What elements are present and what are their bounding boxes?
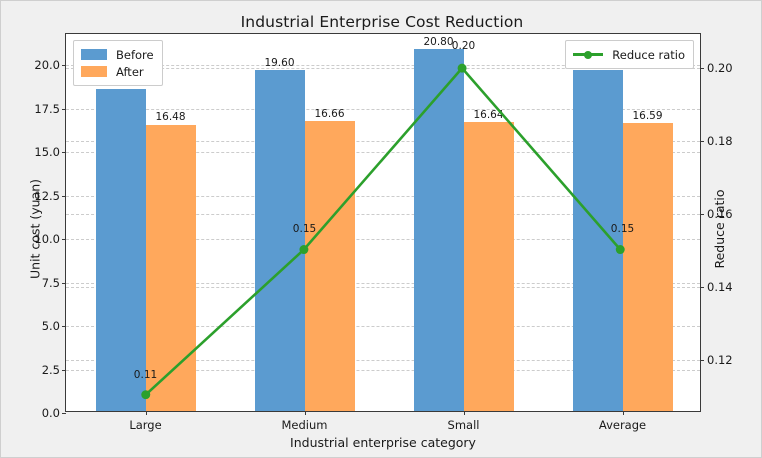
legend-swatch-before: [81, 49, 107, 60]
bar-before: [414, 49, 464, 411]
bar-before: [255, 70, 305, 411]
bar-before: [573, 70, 623, 411]
bar-value-label: 19.60: [264, 57, 294, 69]
x-tick-label: Small: [448, 418, 480, 432]
y-tick-label-right: 0.20: [707, 61, 733, 75]
bar-after: [464, 122, 514, 411]
y-tick-mark-left: [62, 152, 66, 153]
y-tick-mark-left: [62, 239, 66, 240]
y-tick-mark-left: [62, 65, 66, 66]
y-tick-label-right: 0.12: [707, 353, 733, 367]
y-tick-mark-right: [700, 141, 704, 142]
legend-label-reduce-ratio: Reduce ratio: [612, 48, 685, 62]
bar-value-label: 20.80: [423, 36, 453, 48]
y-tick-mark-right: [700, 214, 704, 215]
y-tick-label-left: 5.0: [42, 319, 60, 333]
y-tick-label-left: 0.0: [42, 406, 60, 420]
reduce-ratio-value-label: 0.20: [452, 40, 475, 52]
y-tick-mark-left: [62, 370, 66, 371]
chart-title: Industrial Enterprise Cost Reduction: [1, 13, 762, 31]
legend-bars[interactable]: BeforeAfter: [73, 40, 163, 86]
legend-row-reduce-ratio: Reduce ratio: [573, 46, 685, 63]
y-tick-label-right: 0.16: [707, 207, 733, 221]
chart-figure: Industrial Enterprise Cost Reduction Uni…: [0, 0, 762, 458]
x-tick-mark: [305, 411, 306, 415]
reduce-ratio-value-label: 0.11: [134, 369, 157, 381]
bar-after: [623, 123, 673, 411]
y-tick-mark-left: [62, 196, 66, 197]
y-tick-mark-left: [62, 283, 66, 284]
legend-label-before: Before: [116, 48, 154, 62]
bar-value-label: 16.64: [473, 109, 503, 121]
y-tick-label-left: 17.5: [34, 102, 60, 116]
y-tick-mark-left: [62, 326, 66, 327]
y-tick-mark-right: [700, 360, 704, 361]
legend-swatch-after: [81, 66, 107, 77]
x-tick-mark: [464, 411, 465, 415]
y-tick-label-left: 12.5: [34, 189, 60, 203]
reduce-ratio-polyline: [146, 68, 620, 395]
bar-value-label: 16.66: [314, 108, 344, 120]
y-axis-label-right: Reduce ratio: [712, 189, 727, 268]
legend-label-after: After: [116, 65, 144, 79]
reduce-ratio-value-label: 0.15: [611, 223, 634, 235]
y-tick-label-left: 2.5: [42, 363, 60, 377]
line-marker-icon: [573, 49, 603, 60]
bar-after: [305, 121, 355, 411]
y-tick-label-left: 20.0: [34, 58, 60, 72]
y-tick-label-right: 0.14: [707, 280, 733, 294]
legend-line[interactable]: Reduce ratio: [565, 40, 694, 69]
x-tick-label: Large: [129, 418, 161, 432]
y-tick-label-right: 0.18: [707, 134, 733, 148]
legend-row-before: Before: [81, 46, 154, 63]
y-tick-mark-left: [62, 109, 66, 110]
x-tick-mark: [623, 411, 624, 415]
y-tick-mark-left: [62, 413, 66, 414]
bar-value-label: 16.59: [632, 110, 662, 122]
x-tick-label: Average: [599, 418, 646, 432]
x-axis-label: Industrial enterprise category: [65, 435, 701, 450]
y-tick-label-left: 10.0: [34, 232, 60, 246]
y-tick-label-left: 7.5: [42, 276, 60, 290]
legend-row-after: After: [81, 63, 154, 80]
bar-before: [96, 89, 146, 411]
y-tick-mark-right: [700, 68, 704, 69]
plot-area: 0.02.55.07.510.012.515.017.520.0 0.120.1…: [65, 33, 701, 412]
x-tick-mark: [146, 411, 147, 415]
y-tick-label-left: 15.0: [34, 145, 60, 159]
bar-value-label: 16.48: [155, 111, 185, 123]
y-tick-mark-right: [700, 287, 704, 288]
x-tick-label: Medium: [282, 418, 328, 432]
reduce-ratio-value-label: 0.15: [293, 223, 316, 235]
